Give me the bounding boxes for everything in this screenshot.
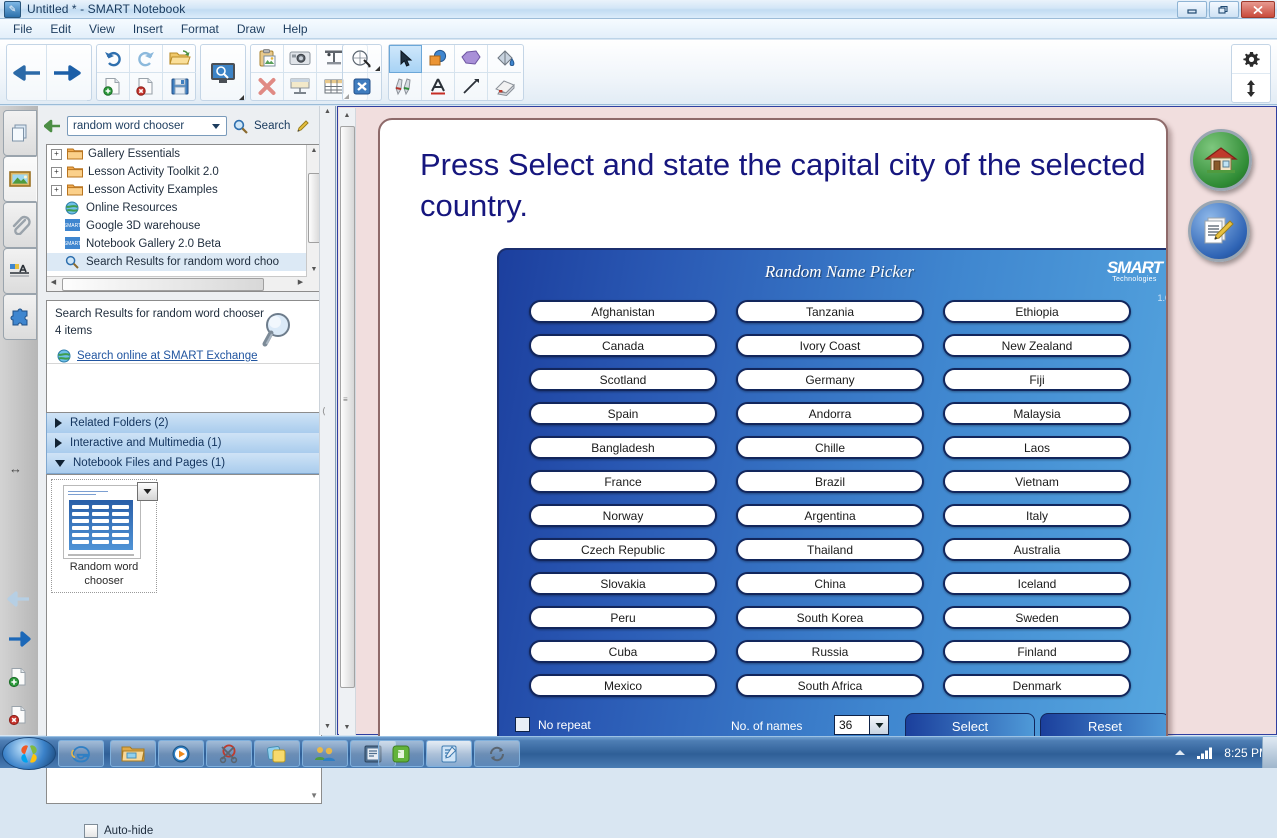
accordion-interactive-multimedia[interactable]: Interactive and Multimedia (1) [46,433,322,454]
taskbar-item-evernote[interactable] [378,740,424,767]
chevron-down-icon[interactable] [137,482,158,501]
toolbar-group-capture [200,44,246,101]
picker-name-item[interactable]: Vietnam [943,470,1131,493]
notebook-page[interactable]: Press Select and state the capital city … [378,118,1168,738]
system-tray: 8:25 PM [1174,737,1277,768]
panel-resize-handle[interactable]: ↔ [9,461,22,476]
tree-item-label: Search Results for random word choo [86,256,279,268]
tree-item-gallery-essentials[interactable]: + Gallery Essentials [47,145,321,163]
tree-item-online-resources[interactable]: Online Resources [47,199,321,217]
thumbnail-grid [69,500,133,550]
picker-name-item[interactable]: Peru [529,606,717,629]
globe-icon [57,349,71,363]
paste-button[interactable] [251,45,284,73]
chevron-right-icon[interactable] [55,418,62,428]
picker-name-item[interactable]: Tanzania [736,300,924,323]
paperclip-icon [9,215,31,235]
line-button[interactable] [455,73,488,100]
chevron-down-icon[interactable] [212,124,220,129]
picker-name-item[interactable]: New Zealand [943,334,1131,357]
smart-icon: SMART [65,237,81,251]
picture-icon [9,170,31,188]
notes-orb[interactable] [1188,200,1250,262]
random-name-picker-widget[interactable]: Random Name Picker SMART Technologies 1.… [497,248,1168,738]
magnifier-icon [65,255,81,269]
scroll-up-arrow[interactable]: ▲ [339,108,355,123]
picker-name-item[interactable]: Germany [736,368,924,391]
tree-horizontal-scrollbar[interactable]: ◀ ▶ [47,276,307,291]
chevron-down-icon[interactable] [870,715,889,735]
window-controls[interactable] [1177,1,1275,18]
page-title: Press Select and state the capital city … [420,144,1150,226]
sidebar-item-page-sorter[interactable] [3,110,37,156]
tree-hscroll-thumb[interactable] [62,278,264,291]
magnifier-icon [259,311,299,351]
taskbar-item-media-player[interactable] [158,740,204,767]
menu-item-help[interactable]: Help [274,20,317,38]
canvas-vertical-scrollbar[interactable]: ▲ ≡ ▼ [339,108,356,735]
toolbar-group-file [96,44,196,101]
picker-name-item[interactable]: Ethiopia [943,300,1131,323]
tree-item-label: Gallery Essentials [88,148,180,160]
thumbnail-scroll-down-arrow[interactable]: ▼ [310,791,318,800]
gallery-search-button[interactable]: Search [254,120,290,132]
tree-item-label: Online Resources [86,202,177,214]
eraser-button[interactable] [488,73,521,100]
picker-name-item[interactable]: Finland [943,640,1131,663]
accordion-related-folders[interactable]: Related Folders (2) [46,413,322,434]
taskbar-item-internet-explorer[interactable] [58,740,104,767]
expander-icon[interactable]: + [51,185,62,196]
chevron-right-icon[interactable] [55,438,62,448]
gallery-thumbnail-item[interactable]: Random word chooser [51,479,157,593]
smart-logo-sub: Technologies [1107,276,1162,283]
show-hidden-icons-icon[interactable] [1174,748,1186,757]
sticky-notes-icon [266,744,288,764]
toolbar-group-navigation [6,44,92,101]
menu-item-view[interactable]: View [80,20,124,38]
windows-start-icon[interactable] [2,737,56,770]
tree-item-google-3d-warehouse[interactable]: SMART Google 3D warehouse [47,217,321,235]
picker-version: 1.0 [1157,293,1168,303]
tree-item-label: Notebook Gallery 2.0 Beta [86,238,221,250]
picker-controls: No repeat No. of names 36 Select Reset [499,708,1168,738]
picker-name-item[interactable]: South Korea [736,606,924,629]
gear-icon[interactable] [1232,45,1270,74]
taskbar-item-meeting[interactable] [302,740,348,767]
accordion-notebook-files-pages[interactable]: Notebook Files and Pages (1) [46,453,322,474]
picker-title: Random Name Picker [499,262,1168,282]
menu-item-file[interactable]: File [4,20,41,38]
picker-name-item[interactable]: Denmark [943,674,1131,697]
no-of-names-stepper[interactable]: 36 [834,715,889,735]
previous-page-side-button[interactable] [6,586,32,612]
accordion-label: Notebook Files and Pages (1) [73,457,225,469]
tree-item-lesson-activity-toolkit[interactable]: + Lesson Activity Toolkit 2.0 [47,163,321,181]
open-file-button[interactable] [163,45,196,73]
gallery-panel: random word chooser Search + Gallery Ess… [38,106,336,735]
windows-taskbar: 8:25 PM [0,736,1277,768]
picker-name-item[interactable]: China [736,572,924,595]
internet-explorer-icon [70,744,92,764]
picker-name-item[interactable]: Australia [943,538,1131,561]
delete-page-side-button[interactable] [6,702,32,728]
expander-icon[interactable]: + [51,149,62,160]
media-player-icon [170,744,192,764]
picker-name-item[interactable]: Slovakia [529,572,717,595]
move-toolbar-icon[interactable] [1232,74,1270,102]
taskbar-item-smart-notebook[interactable] [426,740,472,767]
smart-icon: SMART [65,219,81,233]
camera-button[interactable] [284,45,317,73]
full-screen-button[interactable] [343,73,381,100]
pencil-icon[interactable] [296,119,310,133]
window-titlebar: ✎ Untitled * - SMART Notebook [0,0,1277,19]
scrollbar-grip: ≡ [343,398,348,401]
auto-hide-checkbox[interactable] [84,824,98,838]
scroll-up-arrow[interactable]: ▲ [320,106,335,120]
notes-pencil-icon [1202,216,1236,246]
tree-item-label: Google 3D warehouse [86,220,200,232]
picker-name-item[interactable]: Thailand [736,538,924,561]
taskbar-item-sync[interactable] [474,740,520,767]
picker-name-item[interactable]: Chille [736,436,924,459]
home-orb[interactable] [1190,129,1252,191]
thumbnail-caption: Random word chooser [52,560,156,588]
picker-column-2: Tanzania Ivory Coast Germany Andorra Chi… [736,300,924,708]
scroll-down-arrow[interactable]: ▼ [320,721,335,735]
auto-hide-option[interactable]: Auto-hide [84,824,153,838]
picker-column-1: Afghanistan Canada Scotland Spain Bangla… [529,300,717,708]
search-online-link-label[interactable]: Search online at SMART Exchange [77,350,258,362]
picker-name-item[interactable]: Canada [529,334,717,357]
picker-name-item[interactable]: Bangladesh [529,436,717,459]
tree-item-search-results[interactable]: Search Results for random word choo [47,253,321,271]
svg-text:SMART: SMART [65,241,80,247]
gallery-search-row: random word chooser Search [44,114,330,138]
new-page-button[interactable] [97,73,130,100]
properties-icon [9,262,31,281]
gallery-tree[interactable]: + Gallery Essentials + Lesson Activity T… [46,144,322,292]
taskbar-item-sticky-notes[interactable] [254,740,300,767]
scrollbar-grip: ⟨ [322,406,326,417]
picker-name-item[interactable]: Russia [736,640,924,663]
no-repeat-label: No repeat [538,718,591,732]
delete-page-button[interactable] [130,73,163,100]
back-arrow-icon[interactable] [44,119,61,133]
sidebar-item-add-ons[interactable] [3,294,37,340]
menu-item-draw[interactable]: Draw [228,20,274,38]
menu-bar[interactable]: File Edit View Insert Format Draw Help [0,19,1277,39]
tree-item-label: Lesson Activity Toolkit 2.0 [88,166,219,178]
smart-logo: SMART Technologies [1107,258,1162,283]
add-page-side-button[interactable] [6,664,32,690]
picker-name-item[interactable]: Scotland [529,368,717,391]
tree-item-lesson-activity-examples[interactable]: + Lesson Activity Examples [47,181,321,199]
sidebar-item-attachments[interactable] [3,202,37,248]
measurement-menu-corner[interactable] [375,66,380,71]
gallery-results-box: Search Results for random word chooser 4… [46,300,322,413]
magnifier-icon[interactable] [233,119,248,134]
picker-name-item[interactable]: Sweden [943,606,1131,629]
capture-menu-corner[interactable] [239,95,244,100]
globe-icon [65,201,81,215]
picker-name-item[interactable]: Ivory Coast [736,334,924,357]
next-page-button[interactable] [47,45,87,101]
polygon-button[interactable] [455,45,488,73]
picker-name-item[interactable]: Argentina [736,504,924,527]
picker-name-item[interactable]: Afghanistan [529,300,717,323]
picker-name-item[interactable]: Italy [943,504,1131,527]
next-page-side-button[interactable] [6,626,32,652]
folder-icon [67,183,83,197]
picker-column-3: Ethiopia New Zealand Fiji Malaysia Laos … [943,300,1131,708]
gallery-search-value: random word chooser [73,120,184,132]
folder-icon [67,165,83,179]
app-icon: ✎ [4,1,21,18]
picker-name-item[interactable]: Spain [529,402,717,425]
picker-name-item[interactable]: Fiji [943,368,1131,391]
fill-button[interactable] [488,45,521,73]
measurement-tools-button[interactable] [343,45,381,73]
folder-icon [67,147,83,161]
gallery-vertical-scrollbar[interactable]: ▲ ⟨ ▼ [319,106,335,735]
taskbar-item-file-explorer[interactable] [110,740,156,767]
scroll-down-arrow[interactable]: ▼ [339,720,355,735]
sidebar-tab-strip: ↔ [0,106,39,735]
minimize-button[interactable] [1177,1,1207,18]
svg-text:SMART: SMART [65,223,80,229]
pages-icon [10,123,30,143]
canvas-scroll-thumb[interactable] [340,126,355,688]
select-tool-button[interactable] [389,45,422,73]
save-button[interactable] [163,73,196,100]
thumbnail-preview [63,485,141,559]
evernote-icon [391,744,411,764]
menu-item-format[interactable]: Format [172,20,228,38]
undo-button[interactable] [97,45,130,73]
redo-button[interactable] [130,45,163,73]
accordion-label: Related Folders (2) [70,417,168,429]
scroll-left-arrow[interactable]: ◀ [47,277,60,290]
network-signal-icon[interactable] [1196,746,1214,760]
picker-name-item[interactable]: Iceland [943,572,1131,595]
previous-page-button[interactable] [7,45,47,101]
show-desktop-button[interactable] [1262,737,1277,768]
window-title: Untitled * - SMART Notebook [27,2,185,16]
shapes-button[interactable] [422,45,455,73]
menu-item-edit[interactable]: Edit [41,20,80,38]
tree-item-label: Lesson Activity Examples [88,184,218,196]
house-icon [1204,145,1238,175]
toolbar-group-tools-extra [342,44,382,101]
picker-name-item[interactable]: Malaysia [943,402,1131,425]
no-repeat-option[interactable]: No repeat [515,717,591,732]
reset-button[interactable]: Reset [1040,713,1168,738]
tree-item-notebook-gallery-beta[interactable]: SMART Notebook Gallery 2.0 Beta [47,235,321,253]
picker-name-item[interactable]: Laos [943,436,1131,459]
canvas-area: ▲ ≡ ▼ Press Select and state the capital… [337,106,1277,735]
picker-name-item[interactable]: France [529,470,717,493]
chevron-down-icon[interactable] [55,460,65,467]
picker-name-item[interactable]: Cuba [529,640,717,663]
gallery-search-input[interactable]: random word chooser [67,116,227,136]
picker-name-item[interactable]: Andorra [736,402,924,425]
scroll-right-arrow[interactable]: ▶ [294,277,307,290]
toolbar-options-group [1231,44,1271,103]
menu-item-insert[interactable]: Insert [124,20,172,38]
smart-logo-main: SMART [1107,258,1162,278]
smart-notebook-icon [439,744,459,764]
no-repeat-checkbox[interactable] [515,717,530,732]
picker-name-item[interactable]: Czech Republic [529,538,717,561]
accordion-label: Interactive and Multimedia (1) [70,437,221,449]
no-of-names-value[interactable]: 36 [834,715,870,735]
taskbar-item-snipping-tool[interactable] [206,740,252,767]
select-button[interactable]: Select [905,713,1035,738]
file-explorer-icon [121,744,145,763]
puzzle-icon [9,307,31,327]
main-toolbar [0,40,1277,105]
picker-name-item[interactable]: Mexico [529,674,717,697]
close-button[interactable] [1241,1,1275,18]
expander-icon[interactable]: + [51,167,62,178]
text-button[interactable] [422,73,455,100]
pens-button[interactable] [389,73,422,100]
sidebar-item-gallery[interactable] [3,156,37,202]
snipping-tool-icon [218,744,240,764]
delete-button[interactable] [251,73,284,100]
sidebar-item-properties[interactable] [3,248,37,294]
no-of-names-label: No. of names [731,719,802,733]
picker-name-item[interactable]: South Africa [736,674,924,697]
picker-name-item[interactable]: Norway [529,504,717,527]
screen-shade-button[interactable] [284,73,317,100]
picker-name-item[interactable]: Brazil [736,470,924,493]
results-divider [47,363,321,364]
auto-hide-label: Auto-hide [104,825,153,837]
restore-button[interactable] [1209,1,1239,18]
screen-capture-button[interactable] [201,45,245,101]
sync-icon [487,744,507,764]
meeting-icon [313,744,337,764]
toolbar-group-drawing [388,44,524,101]
